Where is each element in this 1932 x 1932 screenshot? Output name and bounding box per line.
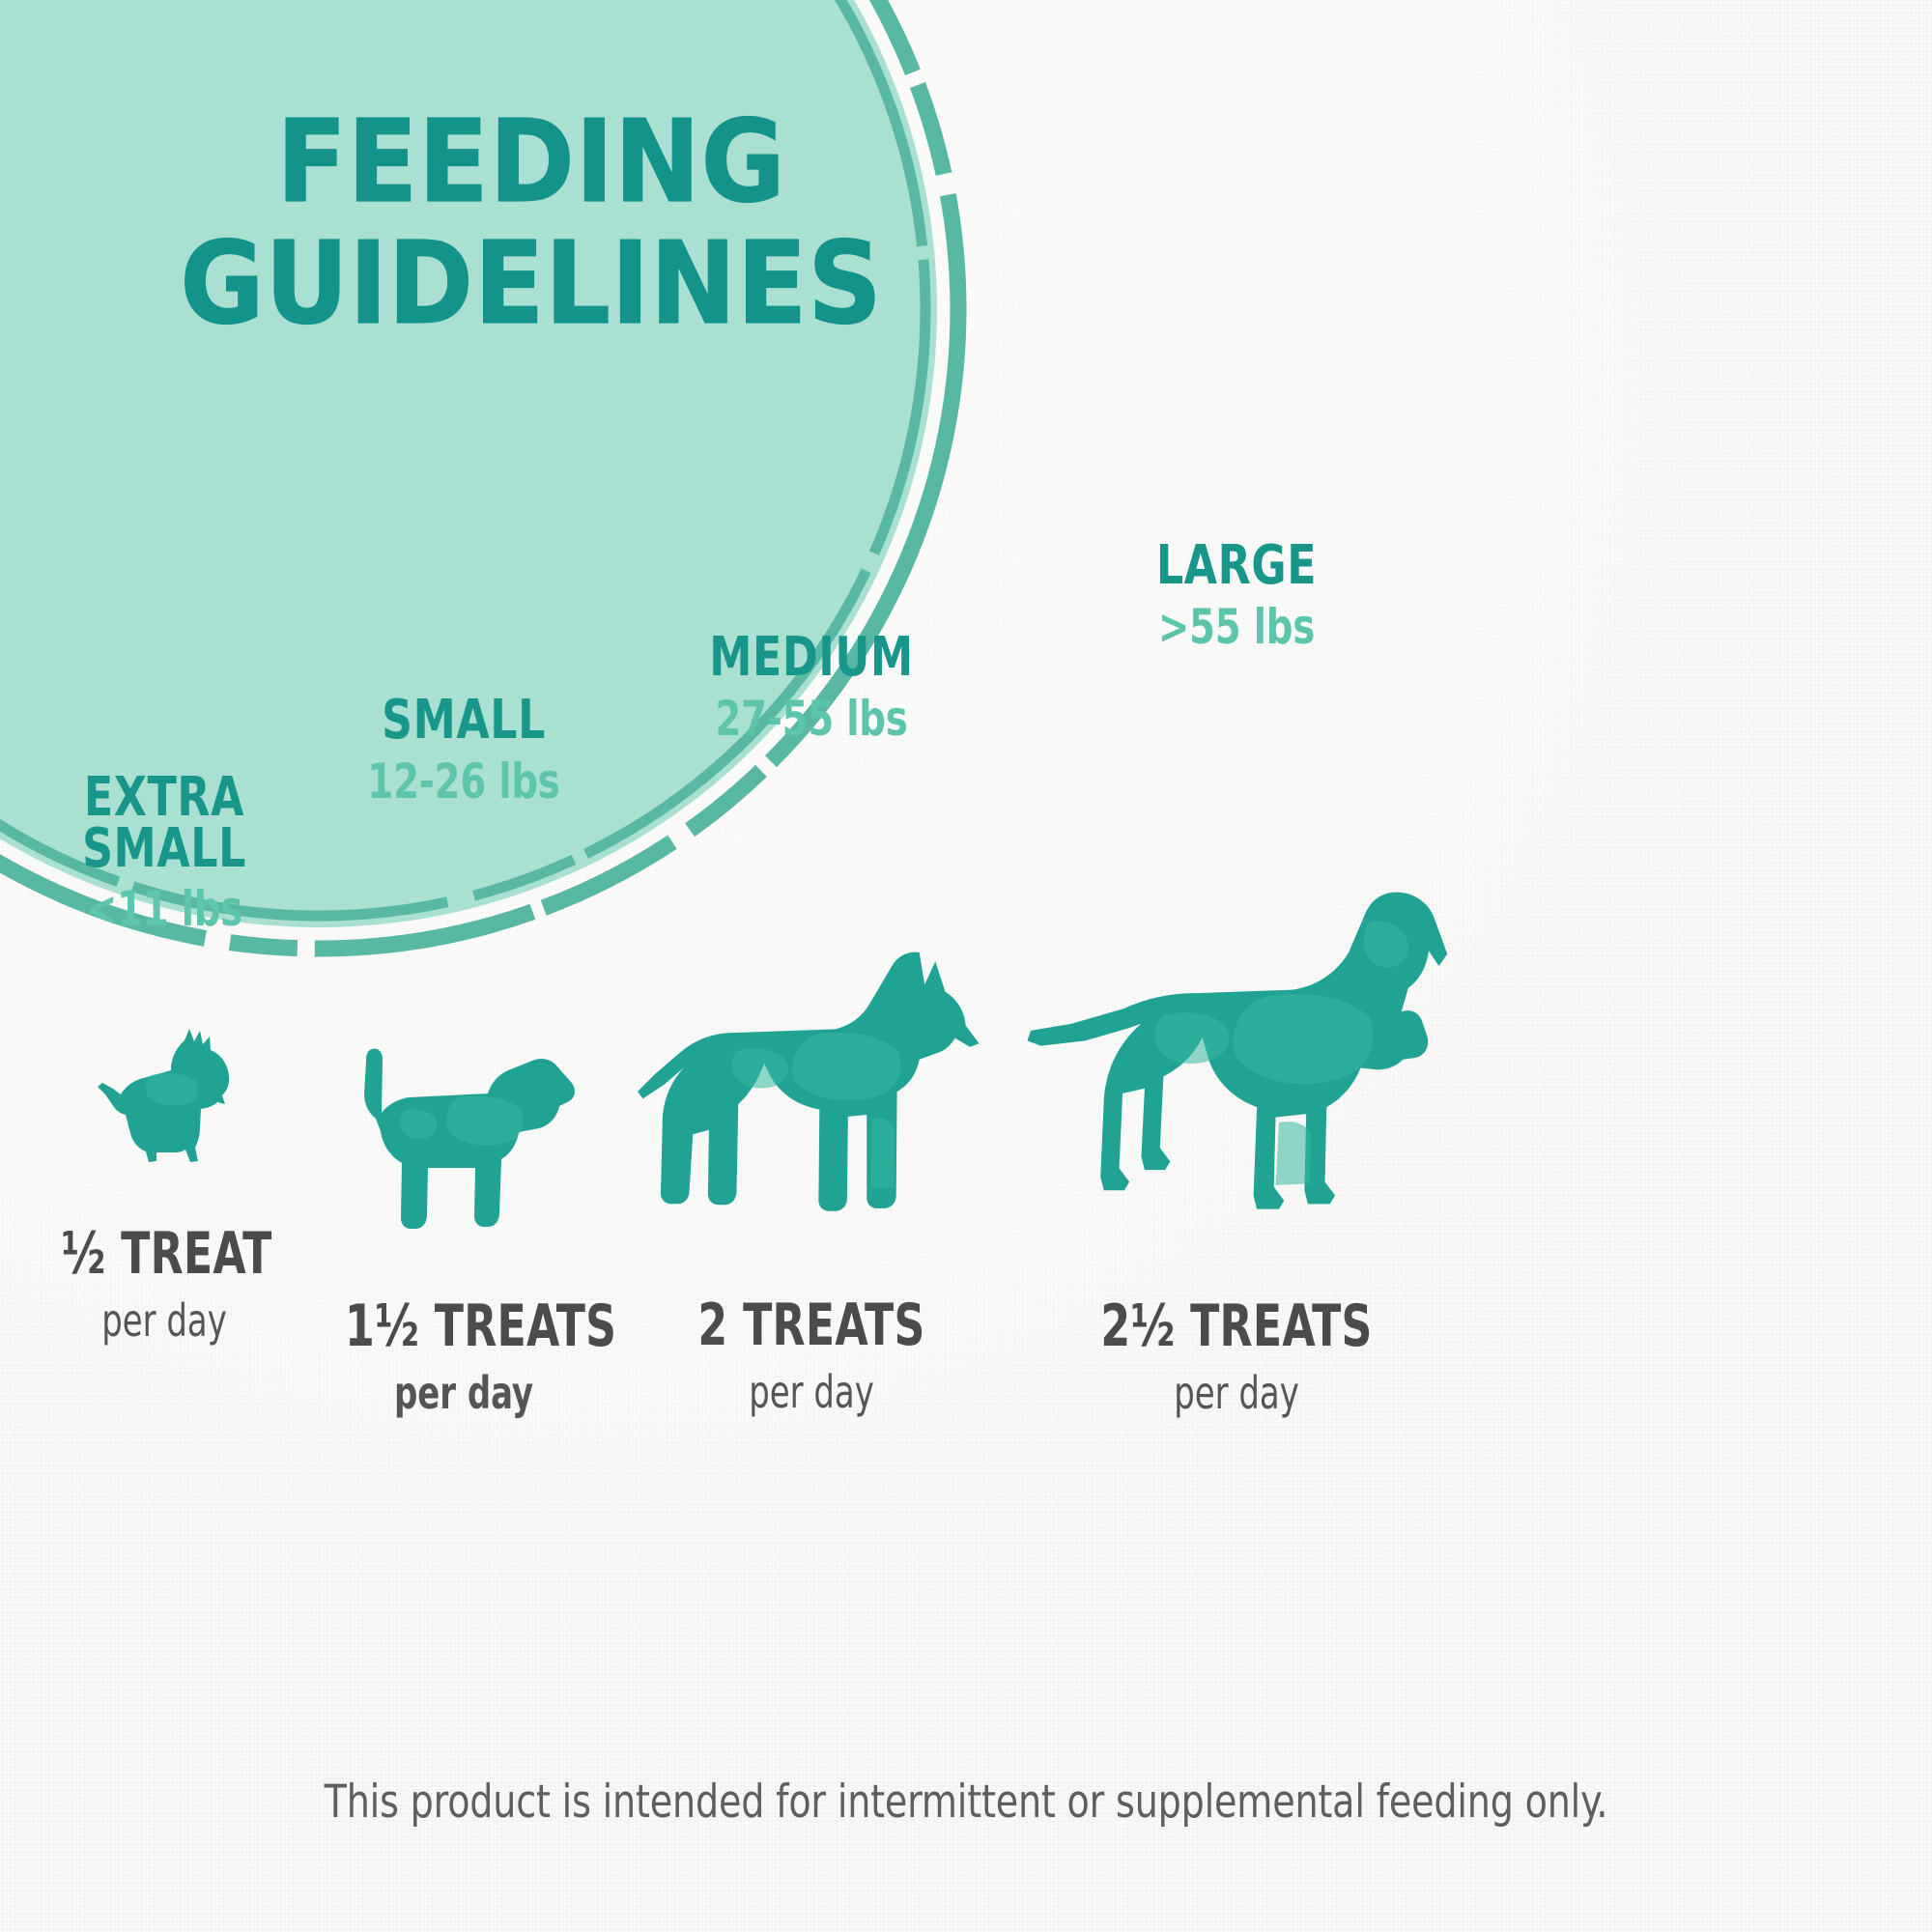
pointer-silhouette-icon <box>1024 710 1449 1251</box>
treat-amount-large: 2½ TREATS <box>1063 1297 1411 1355</box>
size-column-extra-small: EXTRA SMALL <11 lbs ½ TREAT per day <box>39 773 290 1343</box>
size-weight-medium: 27-55 lbs <box>662 694 961 745</box>
pointer-patch-path-4 <box>1275 1122 1311 1185</box>
size-column-small: SMALL 12-26 lbs 1½ TREATS per day <box>319 696 609 1415</box>
treat-per-day-medium: per day <box>668 1370 953 1414</box>
treat-amount-medium: 2 TREATS <box>668 1296 953 1354</box>
size-name-medium: MEDIUM <box>659 633 965 684</box>
size-column-large: LARGE >55 lbs 2½ TREATS per day <box>1024 541 1449 1415</box>
size-name-small: SMALL <box>336 696 591 747</box>
treat-amount-small: 1½ TREATS <box>345 1297 582 1355</box>
chihuahua-silhouette-icon <box>39 981 290 1175</box>
feeding-disclaimer: This product is intended for intermitten… <box>97 1776 1835 1829</box>
size-weight-extra-small: <11 lbs <box>56 884 272 935</box>
shepherd-patch-path-3 <box>871 1118 895 1187</box>
shepherd-patch-path <box>792 1033 900 1100</box>
beagle-silhouette-icon <box>319 971 609 1251</box>
size-name-large: LARGE <box>1049 541 1423 592</box>
treat-per-day-small: per day <box>345 1371 582 1415</box>
title-line-one: FEEDING <box>145 106 918 216</box>
treat-per-day-large: per day <box>1063 1371 1411 1415</box>
shepherd-silhouette-icon <box>638 840 985 1246</box>
feeding-guidelines-poster: FEEDING GUIDELINES EXTRA SMALL <11 lbs ½… <box>0 0 1932 1932</box>
size-column-medium: MEDIUM 27-55 lbs 2 TREATS per day <box>638 633 985 1414</box>
treat-amount-extra-small: ½ TREAT <box>61 1225 267 1283</box>
chihuahua-patch-path <box>146 1073 198 1105</box>
size-name-extra-small: EXTRA SMALL <box>54 773 275 874</box>
page-title: FEEDING GUIDELINES <box>145 106 918 339</box>
size-weight-small: 12-26 lbs <box>339 756 588 808</box>
title-line-two: GUIDELINES <box>145 228 918 338</box>
pointer-patch-path <box>1234 994 1374 1084</box>
treat-per-day-extra-small: per day <box>61 1298 267 1343</box>
beagle-patch-path <box>446 1096 524 1146</box>
size-weight-large: >55 lbs <box>1054 602 1419 653</box>
